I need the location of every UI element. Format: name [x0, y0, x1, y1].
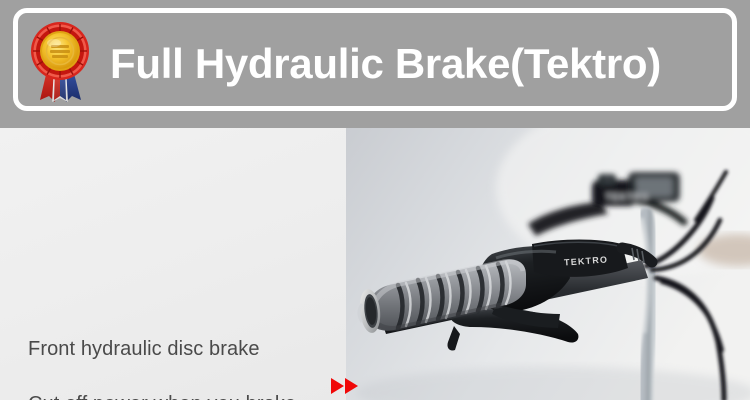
award-rosette-icon: [24, 18, 96, 104]
feature-text-line-2: Cut off power when you brake it: [28, 390, 308, 400]
double-right-arrow-icon: [331, 377, 361, 395]
product-feature-banner: Full Hydraulic Brake(Tektro) Front hydra…: [0, 0, 750, 400]
product-photo: TEKTRO: [346, 128, 750, 400]
arrow-triangle-2: [345, 378, 358, 394]
page-title: Full Hydraulic Brake(Tektro): [110, 43, 661, 85]
feature-text-panel: Front hydraulic disc brake Cut off power…: [0, 128, 346, 400]
feature-text-line-1: Front hydraulic disc brake: [28, 335, 260, 363]
content-area: Front hydraulic disc brake Cut off power…: [0, 128, 750, 400]
svg-text:TEKTRO: TEKTRO: [606, 192, 649, 202]
arrow-triangle-1: [331, 378, 344, 394]
header-content: Full Hydraulic Brake(Tektro): [0, 0, 750, 128]
header-banner: Full Hydraulic Brake(Tektro): [0, 0, 750, 128]
